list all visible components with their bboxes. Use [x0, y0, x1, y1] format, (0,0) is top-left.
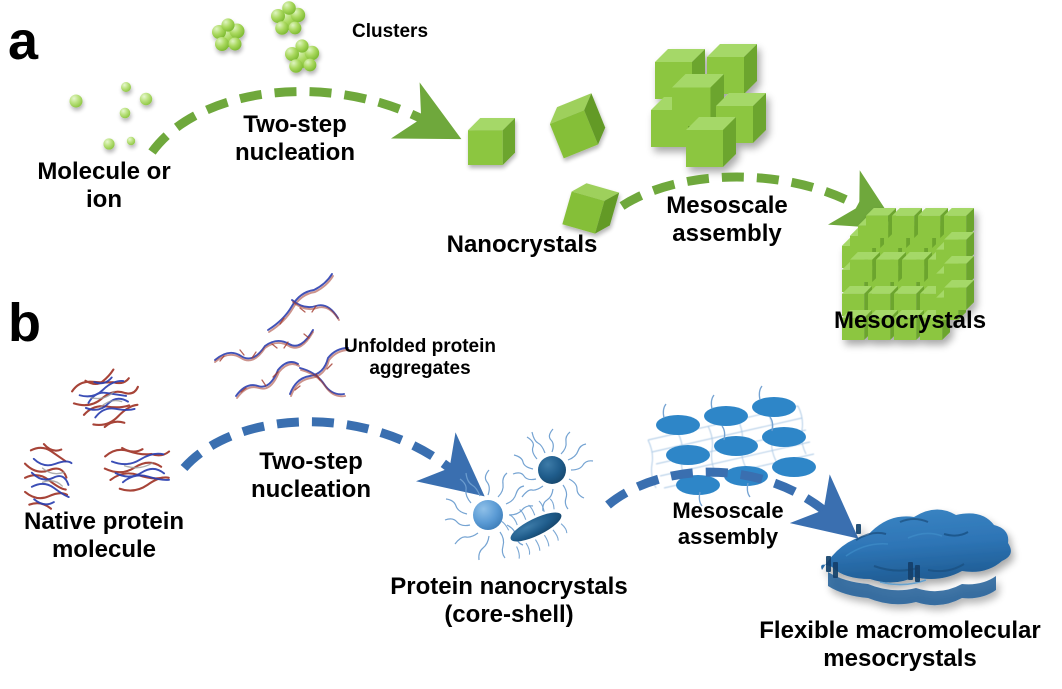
- label-clusters: Clusters: [330, 21, 450, 43]
- glyph-core-shell-particles: [445, 429, 593, 560]
- panel-label-b: b: [8, 296, 41, 350]
- core-shell-particle: [513, 429, 593, 511]
- glyph-disc-array: [648, 386, 816, 506]
- protein-blob: [19, 442, 75, 511]
- glyph-nanocrystals: [468, 93, 619, 237]
- glyph-flexible-mesocrystal: [821, 509, 1011, 605]
- figure-canvas: a b: [0, 0, 1062, 689]
- panel-label-a: a: [8, 14, 38, 68]
- panel-a-graphics: [70, 1, 975, 340]
- label-flexible-macromolecular-mesocrystals: Flexible macromolecular mesocrystals: [740, 617, 1060, 673]
- glyph-cube-stack: [651, 44, 766, 167]
- disc-row: [666, 427, 806, 465]
- label-a-two-step-nucleation: Two-step nucleation: [210, 111, 380, 167]
- label-mesocrystals: Mesocrystals: [812, 307, 1008, 335]
- label-native-protein-molecule: Native protein molecule: [4, 508, 204, 564]
- glyph-molecule-or-ion: [70, 82, 153, 150]
- glyph-clusters: [212, 1, 319, 73]
- glyph-native-protein-molecules: [19, 364, 173, 511]
- protein-blob: [102, 442, 173, 494]
- disc-row: [676, 457, 816, 495]
- core-shell-rod: [500, 494, 571, 560]
- label-a-mesoscale-assembly: Mesoscale assembly: [642, 192, 812, 248]
- disc-row: [656, 397, 796, 435]
- label-b-mesoscale-assembly: Mesoscale assembly: [646, 498, 810, 549]
- label-protein-nanocrystals: Protein nanocrystals (core-shell): [384, 573, 634, 629]
- protein-blob: [68, 364, 147, 436]
- label-molecule-or-ion: Molecule or ion: [10, 158, 198, 214]
- label-nanocrystals: Nanocrystals: [432, 231, 612, 259]
- core-shell-particle: [445, 470, 533, 560]
- label-unfolded-protein-aggregates: Unfolded protein aggregates: [322, 336, 518, 380]
- label-b-two-step-nucleation: Two-step nucleation: [226, 448, 396, 504]
